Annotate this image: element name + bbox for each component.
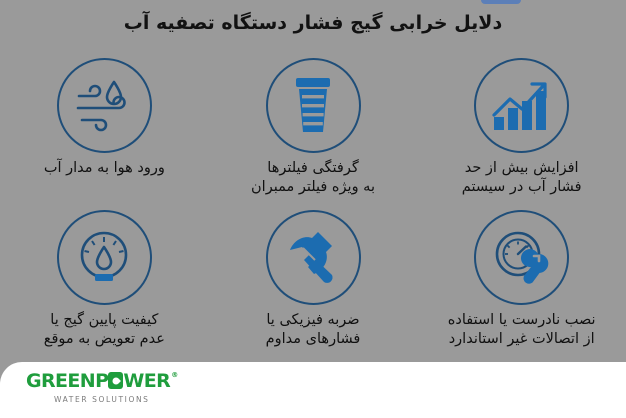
- bar-chart-rising-arrow-icon: [491, 77, 553, 135]
- reason-item-5: ضربه فیزیکی یا فشارهای مداوم: [209, 210, 418, 362]
- reason-item-6: کیفیت پایین گیج یا عدم تعویض به موقع: [0, 210, 209, 362]
- reasons-grid: افزایش بیش از حد فشار آب در سیستم گرفتگی…: [0, 58, 626, 362]
- gauge-wrench-icon: [491, 229, 553, 287]
- icon-circle-5: [266, 210, 361, 305]
- top-accent-bar: [481, 0, 521, 4]
- reason-label-4: نصب نادرست یا استفاده از اتصالات غیر است…: [448, 311, 596, 348]
- water-filter-cartridge-icon: [291, 76, 335, 136]
- brand-logo: GREENP WER ® WATER SOLUTIONS: [26, 372, 178, 404]
- icon-circle-2: [266, 58, 361, 153]
- hammer-icon: [282, 229, 344, 287]
- leaf-droplet-o-icon: [108, 372, 123, 389]
- pressure-gauge-droplet-icon: [73, 227, 135, 289]
- reason-label-6: کیفیت پایین گیج یا عدم تعویض به موقع: [44, 311, 165, 348]
- reason-item-2: گرفتگی فیلترها به ویژه فیلتر ممبران: [209, 58, 418, 210]
- air-wind-droplet-icon: [73, 78, 135, 134]
- reason-label-3: ورود هوا به مدار آب: [44, 159, 165, 178]
- reason-item-3: ورود هوا به مدار آب: [0, 58, 209, 210]
- brand-tagline: WATER SOLUTIONS: [26, 395, 178, 404]
- icon-circle-4: [474, 210, 569, 305]
- icon-circle-1: [474, 58, 569, 153]
- brand-wordmark: GREENP WER ®: [26, 372, 178, 391]
- footer-bar: GREENP WER ® WATER SOLUTIONS: [0, 362, 626, 418]
- reason-label-2: گرفتگی فیلترها به ویژه فیلتر ممبران: [251, 159, 375, 196]
- registered-trademark-icon: ®: [171, 372, 177, 379]
- icon-circle-3: [57, 58, 152, 153]
- reason-label-1: افزایش بیش از حد فشار آب در سیستم: [462, 159, 582, 196]
- brand-text-part2: WER: [123, 372, 170, 391]
- reason-item-1: افزایش بیش از حد فشار آب در سیستم: [417, 58, 626, 210]
- brand-text-part1: GREENP: [26, 372, 108, 391]
- reason-label-5: ضربه فیزیکی یا فشارهای مداوم: [266, 311, 361, 348]
- infographic-canvas: دلایل خرابی گیج فشار دستگاه تصفیه آب افز…: [0, 0, 626, 418]
- reason-item-4: نصب نادرست یا استفاده از اتصالات غیر است…: [417, 210, 626, 362]
- page-title: دلایل خرابی گیج فشار دستگاه تصفیه آب: [0, 12, 626, 35]
- icon-circle-6: [57, 210, 152, 305]
